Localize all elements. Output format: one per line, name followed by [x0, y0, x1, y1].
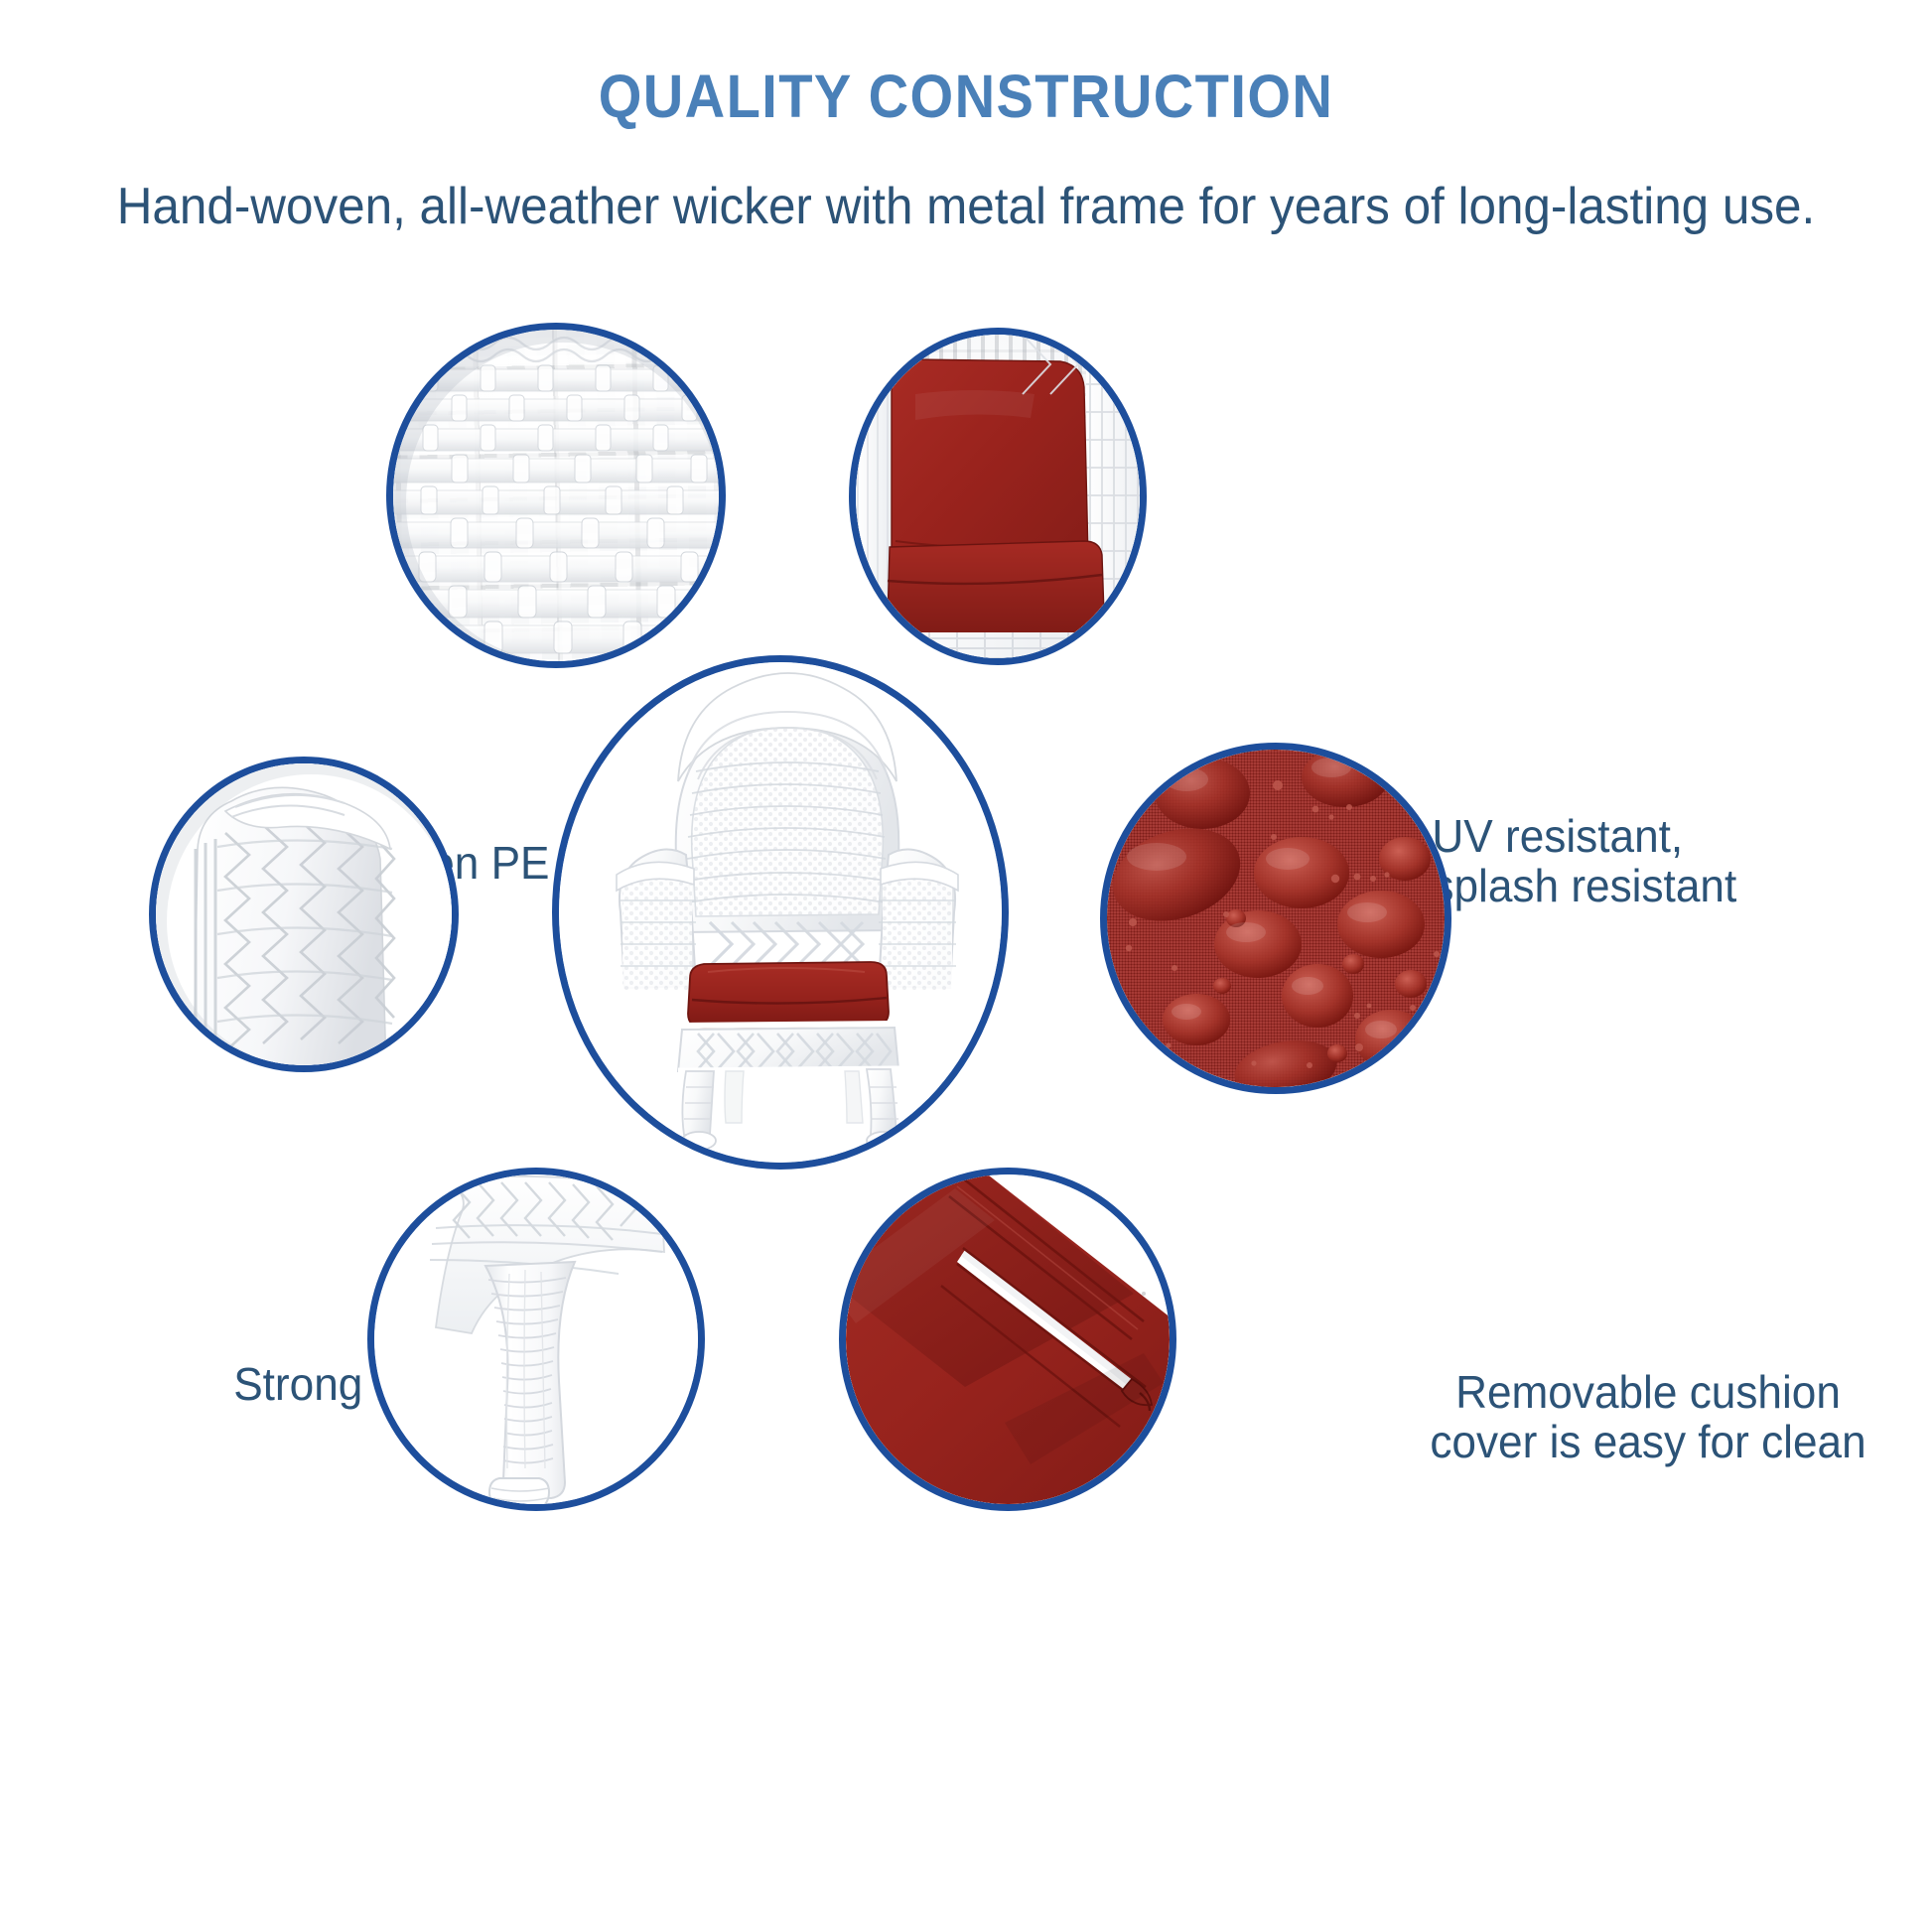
water-droplets-detail — [1107, 750, 1445, 1087]
feature-circle-uv-splash-resistant — [849, 328, 1147, 665]
caption-removable-cushion-cover: Removable cushion cover is easy for clea… — [1362, 1368, 1932, 1466]
water-droplets-photo — [1107, 750, 1445, 1087]
page-title: QUALITY CONSTRUCTION — [77, 62, 1855, 131]
wicker-weave-photo — [393, 330, 719, 661]
feature-circle-removable-cushion-cover — [839, 1168, 1176, 1511]
cushion-zipper-photo — [846, 1174, 1170, 1504]
chair-armrest-structure-photo — [156, 763, 452, 1065]
feature-circle-strong-metal-structure — [149, 757, 459, 1072]
zipper-detail — [846, 1174, 1170, 1504]
feature-circle-water-beading — [1100, 743, 1451, 1094]
red-cushion-photo — [856, 335, 1140, 658]
feature-circle-full-chair — [552, 655, 1009, 1170]
chair-leg-photo — [374, 1174, 698, 1504]
wicker-chair-illustration — [559, 662, 1002, 1163]
infographic-page: QUALITY CONSTRUCTION Hand-woven, all-wea… — [0, 0, 1932, 1932]
full-chair-photo — [559, 662, 1002, 1163]
page-subtitle: Hand-woven, all-weather wicker with meta… — [49, 177, 1884, 236]
feature-circle-chair-leg — [367, 1168, 705, 1511]
wicker-weave-detail — [393, 330, 719, 661]
armrest-weave-detail — [156, 763, 452, 1065]
cushion-in-chair-detail — [856, 335, 1140, 658]
chair-leg-detail — [374, 1174, 698, 1504]
feature-circle-hand-woven-pe-rattan — [386, 323, 726, 668]
caption-uv-splash-resistant: UV resistant, splash resistant — [1432, 812, 1832, 910]
